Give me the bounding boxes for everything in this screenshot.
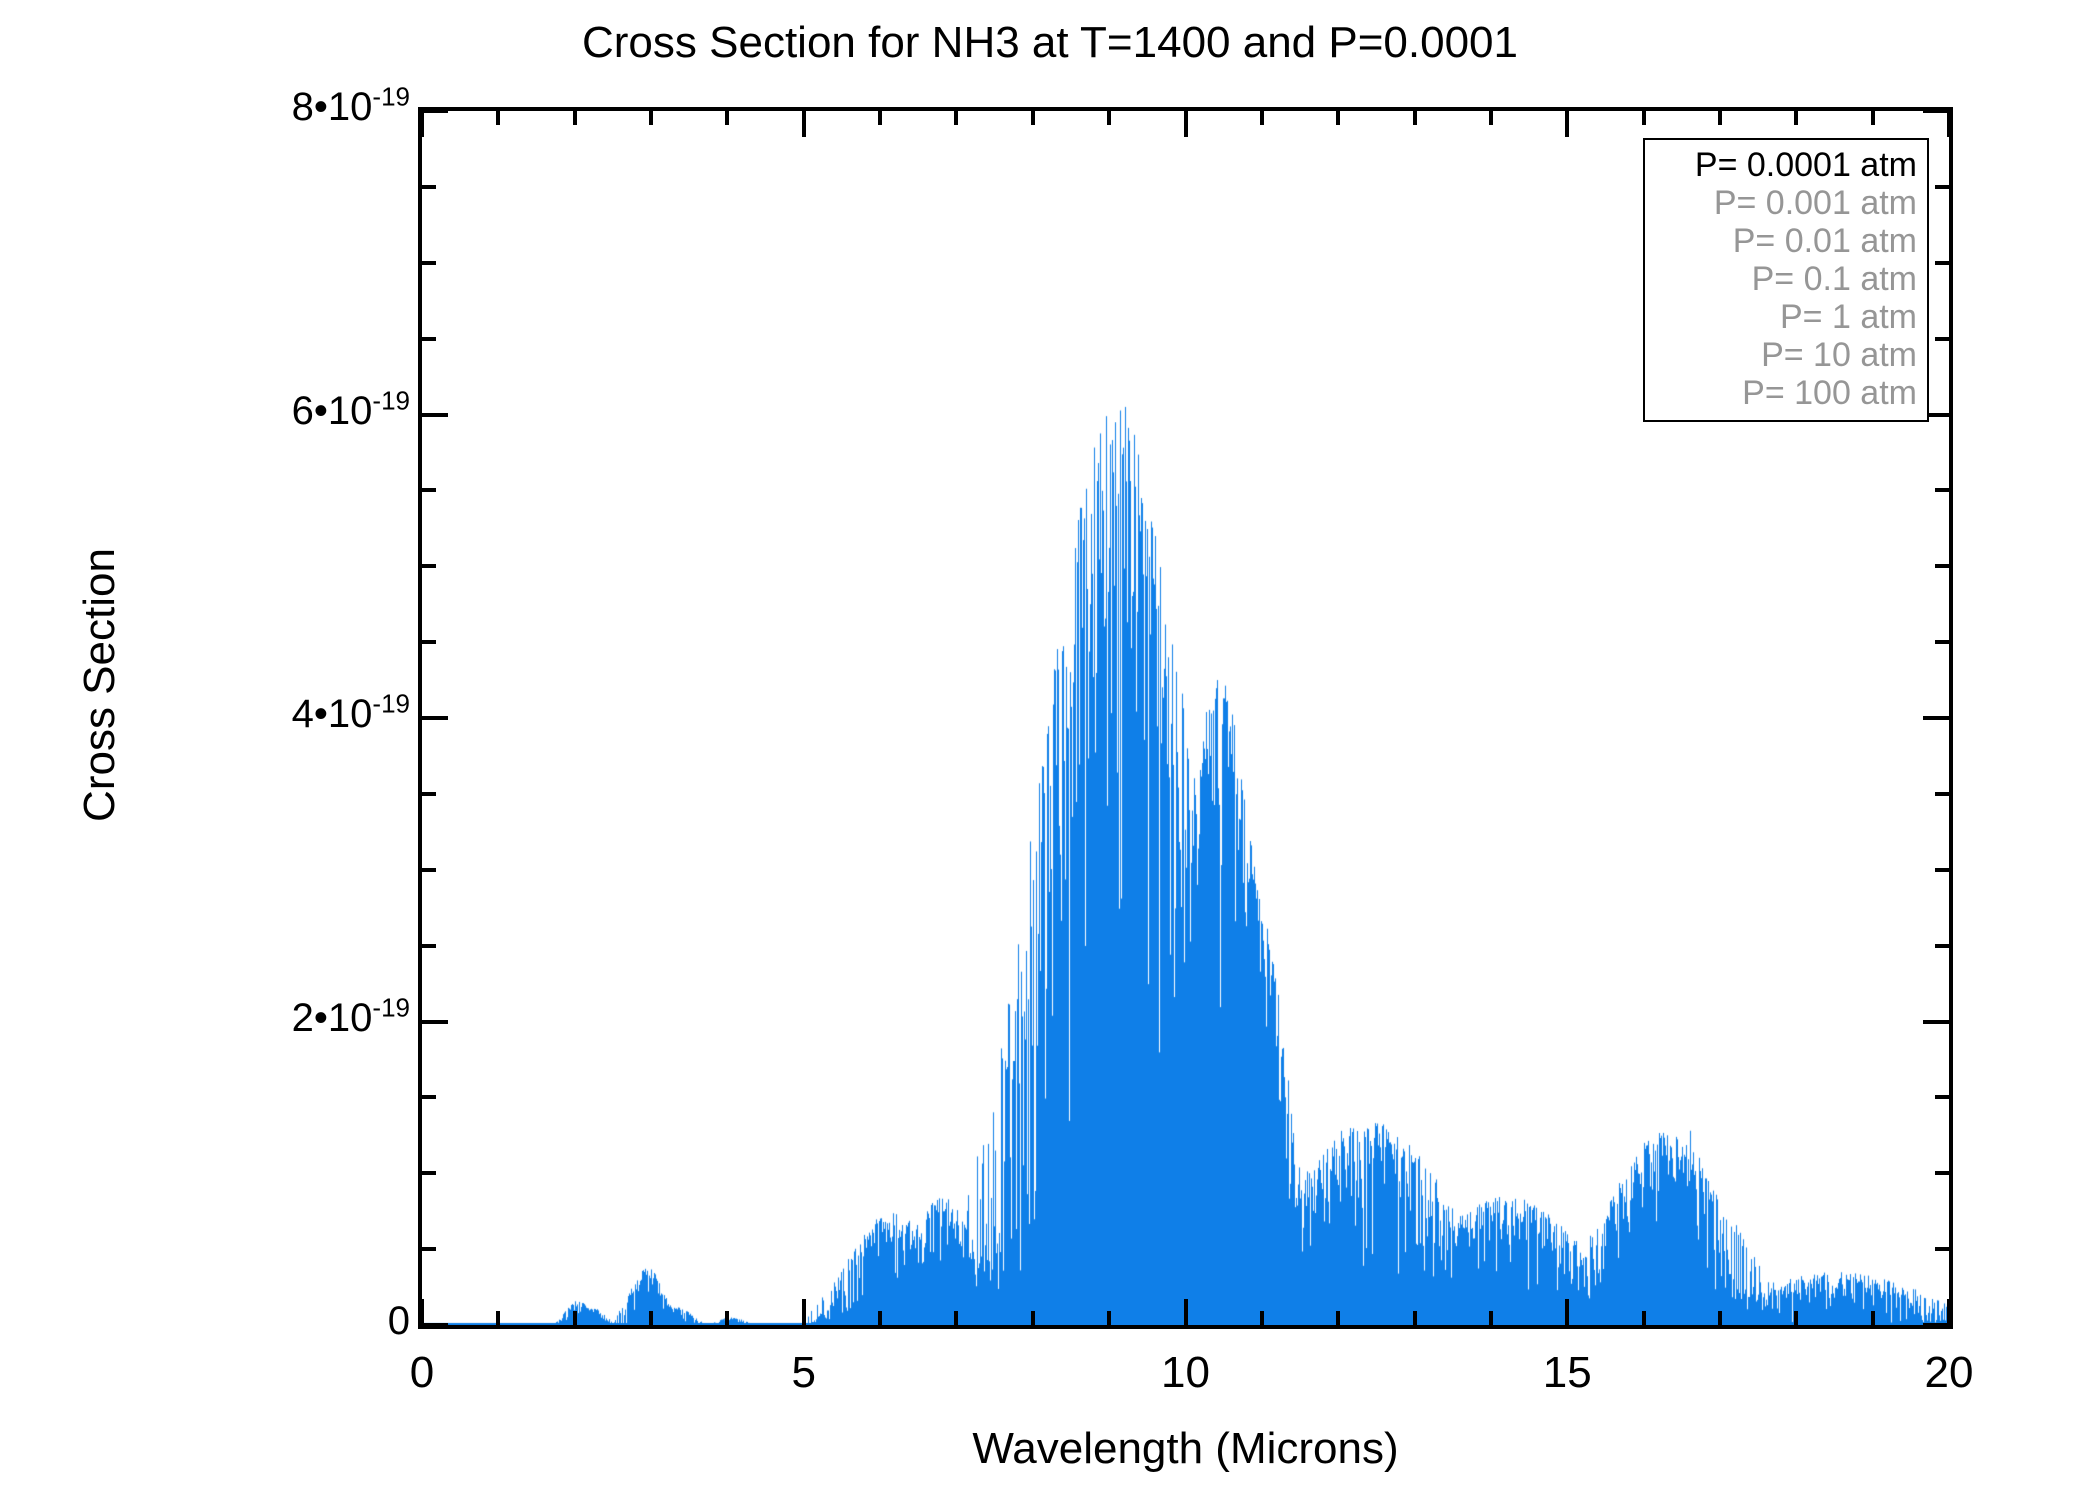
x-axis-tick-label: 10	[1086, 1348, 1286, 1398]
y-axis-tick-label: 8•10-19	[10, 87, 410, 127]
y-axis-tick-label: 4•10-19	[10, 694, 410, 734]
legend-entry[interactable]: P= 10 atm	[1655, 336, 1917, 374]
y-minor-tick	[422, 261, 436, 265]
y-major-tick-right	[1923, 109, 1949, 113]
y-major-tick-right	[1923, 1020, 1949, 1024]
x-minor-tick-top	[1642, 111, 1646, 125]
y-minor-tick	[422, 337, 436, 341]
y-minor-tick-right	[1935, 1095, 1949, 1099]
x-minor-tick-top	[1718, 111, 1722, 125]
y-major-tick-right	[1923, 1323, 1949, 1327]
y-minor-tick-right	[1935, 868, 1949, 872]
x-major-tick-top	[802, 111, 806, 137]
y-minor-tick-right	[1935, 185, 1949, 189]
x-major-tick	[1184, 1299, 1188, 1325]
y-minor-tick	[422, 640, 436, 644]
legend-entry[interactable]: P= 0.0001 atm	[1655, 146, 1917, 184]
y-major-tick	[422, 716, 448, 720]
x-minor-tick	[1260, 1311, 1264, 1325]
x-major-tick-top	[420, 111, 424, 137]
x-axis-tick-label: 5	[704, 1348, 904, 1398]
legend-entry[interactable]: P= 0.01 atm	[1655, 222, 1917, 260]
x-major-tick	[1565, 1299, 1569, 1325]
y-minor-tick-right	[1935, 337, 1949, 341]
x-minor-tick	[954, 1311, 958, 1325]
x-minor-tick	[1642, 1311, 1646, 1325]
x-major-tick	[420, 1299, 424, 1325]
y-minor-tick	[422, 185, 436, 189]
y-minor-tick	[422, 1247, 436, 1251]
y-minor-tick-right	[1935, 1247, 1949, 1251]
legend-entry[interactable]: P= 0.001 atm	[1655, 184, 1917, 222]
x-minor-tick-top	[1794, 111, 1798, 125]
y-minor-tick-right	[1935, 640, 1949, 644]
y-minor-tick-right	[1935, 488, 1949, 492]
y-axis-tick-labels: 02•10-194•10-196•10-198•10-19	[0, 0, 410, 1500]
y-minor-tick	[422, 1095, 436, 1099]
x-major-tick	[802, 1299, 806, 1325]
y-minor-tick	[422, 868, 436, 872]
x-axis-tick-label: 0	[322, 1348, 522, 1398]
y-axis-tick-label: 0	[10, 1301, 410, 1341]
x-minor-tick-top	[1871, 111, 1875, 125]
x-minor-tick	[1871, 1311, 1875, 1325]
x-minor-tick	[649, 1311, 653, 1325]
x-minor-tick	[1489, 1311, 1493, 1325]
legend-entry[interactable]: P= 100 atm	[1655, 374, 1917, 412]
legend-entry[interactable]: P= 1 atm	[1655, 298, 1917, 336]
y-minor-tick	[422, 488, 436, 492]
x-minor-tick-top	[1413, 111, 1417, 125]
y-axis-tick-label: 6•10-19	[10, 391, 410, 431]
x-minor-tick-top	[1107, 111, 1111, 125]
y-minor-tick-right	[1935, 944, 1949, 948]
y-axis-title: Cross Section	[75, 385, 125, 985]
x-minor-tick	[725, 1311, 729, 1325]
x-minor-tick	[496, 1311, 500, 1325]
x-minor-tick-top	[496, 111, 500, 125]
x-minor-tick	[1794, 1311, 1798, 1325]
x-axis-tick-label: 15	[1467, 1348, 1667, 1398]
x-minor-tick-top	[649, 111, 653, 125]
y-major-tick-right	[1923, 716, 1949, 720]
x-minor-tick	[1413, 1311, 1417, 1325]
legend-entry[interactable]: P= 0.1 atm	[1655, 260, 1917, 298]
y-minor-tick-right	[1935, 564, 1949, 568]
x-minor-tick	[1336, 1311, 1340, 1325]
x-axis-tick-label: 20	[1849, 1348, 2049, 1398]
y-major-tick	[422, 109, 448, 113]
x-minor-tick-top	[573, 111, 577, 125]
x-minor-tick-top	[1031, 111, 1035, 125]
y-major-tick	[422, 1020, 448, 1024]
y-minor-tick	[422, 792, 436, 796]
x-minor-tick-top	[1260, 111, 1264, 125]
y-minor-tick	[422, 1171, 436, 1175]
y-major-tick	[422, 1323, 448, 1327]
x-minor-tick-top	[1489, 111, 1493, 125]
x-minor-tick	[1718, 1311, 1722, 1325]
x-minor-tick-top	[954, 111, 958, 125]
x-minor-tick	[878, 1311, 882, 1325]
x-major-tick-top	[1184, 111, 1188, 137]
x-minor-tick	[573, 1311, 577, 1325]
y-axis-tick-label: 2•10-19	[10, 998, 410, 1038]
x-minor-tick	[1031, 1311, 1035, 1325]
x-major-tick	[1947, 1299, 1951, 1325]
y-minor-tick	[422, 944, 436, 948]
y-minor-tick-right	[1935, 261, 1949, 265]
legend: P= 0.0001 atmP= 0.001 atmP= 0.01 atmP= 0…	[1643, 138, 1929, 422]
chart-figure: Cross Section for NH3 at T=1400 and P=0.…	[0, 0, 2100, 1500]
x-minor-tick-top	[1336, 111, 1340, 125]
y-minor-tick	[422, 564, 436, 568]
x-axis-title: Wavelength (Microns)	[418, 1424, 1953, 1474]
y-major-tick	[422, 413, 448, 417]
x-minor-tick-top	[725, 111, 729, 125]
x-minor-tick-top	[878, 111, 882, 125]
x-minor-tick	[1107, 1311, 1111, 1325]
x-major-tick-top	[1947, 111, 1951, 137]
y-minor-tick-right	[1935, 1171, 1949, 1175]
y-minor-tick-right	[1935, 792, 1949, 796]
x-major-tick-top	[1565, 111, 1569, 137]
